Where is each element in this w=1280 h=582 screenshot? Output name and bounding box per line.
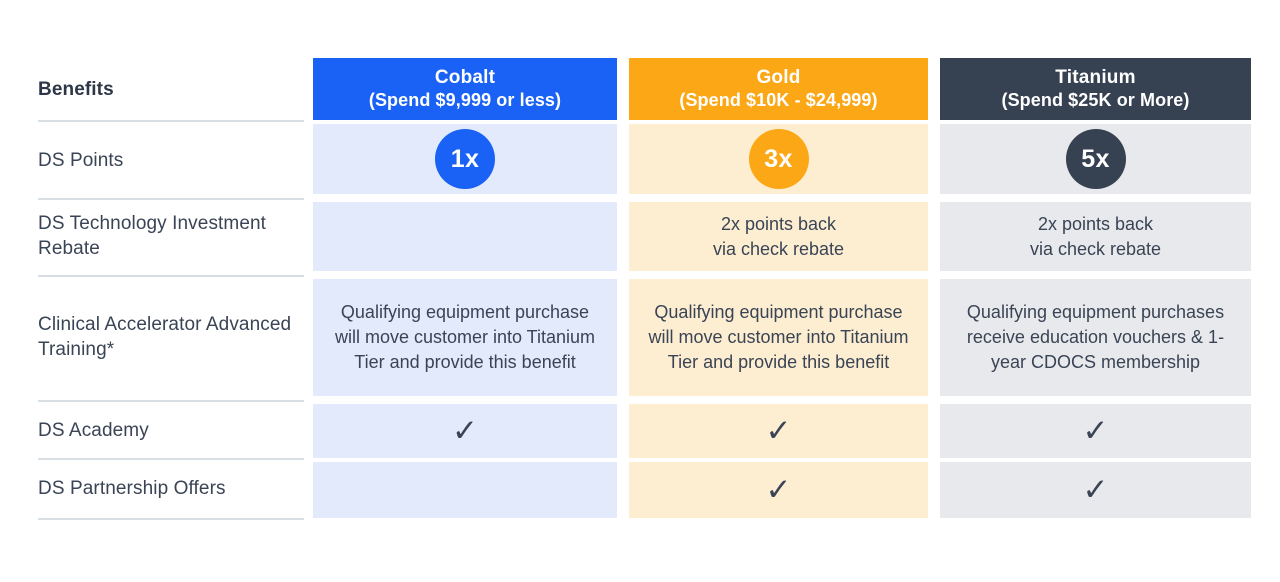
check-icon: ✓: [452, 416, 478, 447]
cell-cobalt-row-4: [313, 462, 617, 518]
check-icon: ✓: [1083, 416, 1109, 447]
cell-titanium-row-3: ✓: [940, 404, 1251, 458]
tier-name-label: Titanium: [1055, 66, 1135, 89]
cell-gold-row-2: Qualifying equipment purchase will move …: [629, 279, 928, 396]
cell-cobalt-row-1: [313, 202, 617, 271]
tier-header-gold[interactable]: Gold(Spend $10K - $24,999): [629, 58, 928, 120]
cell-gold-row-0: 3x: [629, 124, 928, 194]
tier-spend-label: (Spend $25K or More): [1001, 89, 1189, 112]
cell-titanium-row-0: 5x: [940, 124, 1251, 194]
cell-titanium-row-2: Qualifying equipment purchases receive e…: [940, 279, 1251, 396]
check-icon: ✓: [766, 475, 792, 506]
cell-cobalt-row-0: 1x: [313, 124, 617, 194]
points-badge-titanium: 5x: [1066, 129, 1126, 189]
cell-text: 2x points back via check rebate: [713, 212, 844, 262]
tier-header-cobalt[interactable]: Cobalt(Spend $9,999 or less): [313, 58, 617, 120]
tier-benefits-table: BenefitsCobalt(Spend $9,999 or less)Gold…: [0, 0, 1280, 582]
tier-header-titanium[interactable]: Titanium(Spend $25K or More): [940, 58, 1251, 120]
benefit-label-row-2: Clinical Accelerator Advanced Training*: [38, 297, 304, 377]
cell-cobalt-row-2: Qualifying equipment purchase will move …: [313, 279, 617, 396]
cell-cobalt-row-3: ✓: [313, 404, 617, 458]
benefit-label-row-4: DS Partnership Offers: [38, 448, 304, 528]
benefit-label-row-0: DS Points: [38, 120, 304, 200]
tier-spend-label: (Spend $9,999 or less): [369, 89, 561, 112]
points-badge-gold: 3x: [749, 129, 809, 189]
cell-text: 2x points back via check rebate: [1030, 212, 1161, 262]
tier-name-label: Gold: [756, 66, 800, 89]
cell-gold-row-4: ✓: [629, 462, 928, 518]
benefits-column-header: Benefits: [38, 58, 304, 120]
check-icon: ✓: [766, 416, 792, 447]
cell-titanium-row-4: ✓: [940, 462, 1251, 518]
cell-gold-row-3: ✓: [629, 404, 928, 458]
cell-text: Qualifying equipment purchase will move …: [327, 300, 603, 375]
cell-titanium-row-1: 2x points back via check rebate: [940, 202, 1251, 271]
points-badge-cobalt: 1x: [435, 129, 495, 189]
tier-name-label: Cobalt: [435, 66, 495, 89]
benefit-label-row-1: DS Technology Investment Rebate: [38, 196, 304, 276]
cell-text: Qualifying equipment purchase will move …: [643, 300, 914, 375]
check-icon: ✓: [1083, 475, 1109, 506]
cell-gold-row-1: 2x points back via check rebate: [629, 202, 928, 271]
cell-text: Qualifying equipment purchases receive e…: [954, 300, 1237, 375]
tier-spend-label: (Spend $10K - $24,999): [679, 89, 877, 112]
